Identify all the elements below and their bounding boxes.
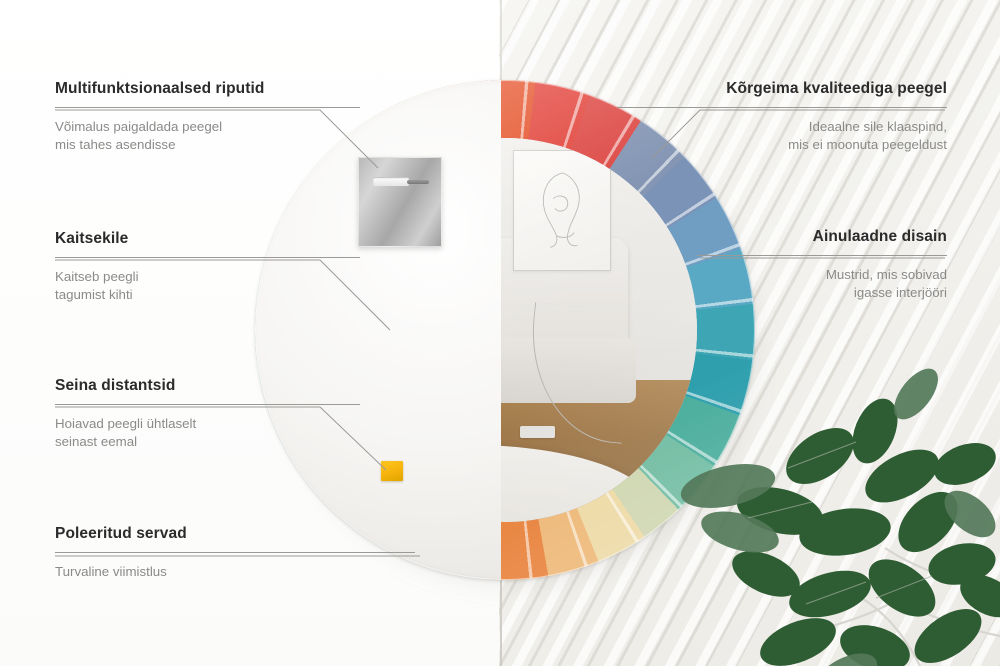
callout-description: Mustrid, mis sobivad igasse interjööri <box>697 266 947 303</box>
wall-spacer-part <box>381 461 403 481</box>
callout-rule <box>617 107 947 108</box>
callout-multifunctional-hangers: Multifunktsionaalsed riputid Võimalus pa… <box>55 80 360 155</box>
callout-title: Seina distantsid <box>55 377 360 395</box>
callout-title: Poleeritud servad <box>55 525 415 543</box>
callout-description: Kaitseb peegli tagumist kihti <box>55 268 360 305</box>
callout-description: Hoiavad peegli ühtlaselt seinast eemal <box>55 415 360 452</box>
callout-rule <box>55 552 415 553</box>
callout-highest-quality-mirror: Kõrgeima kvaliteediga peegel Ideaalne si… <box>617 80 947 155</box>
callout-polished-edges: Poleeritud servad Turvaline viimistlus <box>55 525 415 581</box>
callout-unique-design: Ainulaadne disain Mustrid, mis sobivad i… <box>697 228 947 303</box>
callout-description: Ideaalne sile klaaspind, mis ei moonuta … <box>617 118 947 155</box>
hanger-plate-part <box>358 157 442 247</box>
callout-title: Ainulaadne disain <box>697 228 947 246</box>
hanger-keyhole-slot <box>373 177 409 186</box>
callout-protective-film: Kaitsekile Kaitseb peegli tagumist kihti <box>55 230 360 305</box>
callout-title: Kaitsekile <box>55 230 360 248</box>
infographic-canvas: Multifunktsionaalsed riputid Võimalus pa… <box>0 0 1000 666</box>
callout-rule <box>55 107 360 108</box>
callout-wall-spacers: Seina distantsid Hoiavad peegli ühtlasel… <box>55 377 360 452</box>
callout-title: Multifunktsionaalsed riputid <box>55 80 360 98</box>
decorative-foliage <box>670 336 1000 666</box>
callout-title: Kõrgeima kvaliteediga peegel <box>617 80 947 98</box>
callout-rule <box>55 404 360 405</box>
callout-description: Turvaline viimistlus <box>55 563 415 581</box>
callout-rule <box>55 257 360 258</box>
callout-rule <box>697 255 947 256</box>
callout-description: Võimalus paigaldada peegel mis tahes ase… <box>55 118 360 155</box>
